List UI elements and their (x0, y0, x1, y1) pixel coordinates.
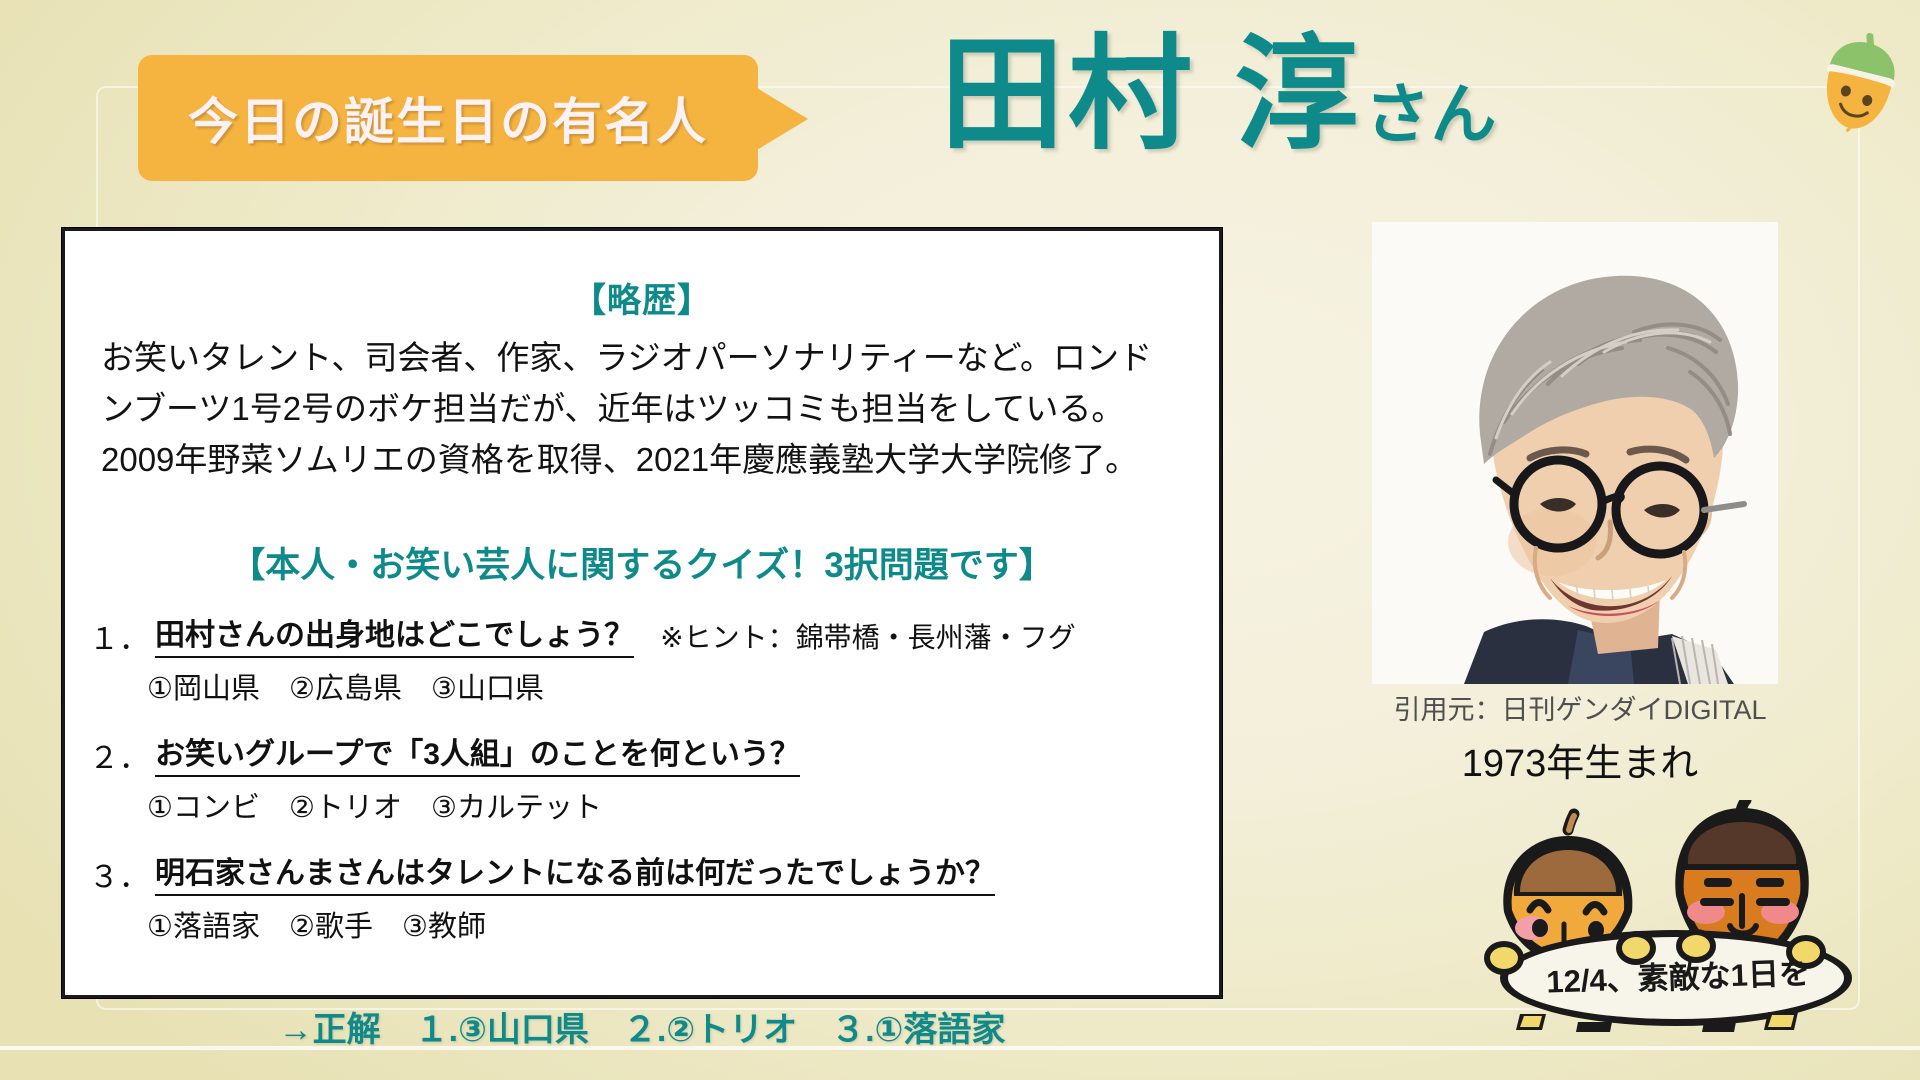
quiz-number: ３． (89, 852, 149, 896)
bio-heading: 【略歴】 (65, 273, 1219, 322)
slide-canvas: 今日の誕生日の有名人 田村 淳 さん 【略歴】 お笑いタレント、司会者、作家、ラ… (0, 0, 1920, 1080)
quiz-number: ２． (89, 733, 149, 777)
quiz-answer-line: →正解 １.③山口県 ２.②トリオ ３.①落語家 (62, 1002, 1222, 1051)
quiz-options: ①落語家 ②歌手 ③教師 (147, 903, 1219, 945)
birth-year: 1973年生まれ (1330, 732, 1830, 787)
quiz-options: ①コンビ ②トリオ ③カルテット (147, 784, 1219, 826)
acorn-mascots-group (1468, 800, 1888, 1050)
bio-line: ンブーツ1号2号のボケ担当だが、近年はツッコミも担当をしている。 (101, 383, 1219, 434)
person-honorific: さん (1364, 61, 1496, 157)
person-name: 田村 淳 (940, 30, 1362, 160)
page-title: 田村 淳 さん (940, 30, 1496, 160)
quiz-heading: 【本人・お笑い芸人に関するクイズ！3択問題です】 (65, 537, 1219, 588)
banner-label: 今日の誕生日の有名人 (188, 82, 708, 154)
quiz-hint: ※ヒント：錦帯橋・長州藩・フグ (660, 616, 1075, 658)
bio-line: お笑いタレント、司会者、作家、ラジオパーソナリティーなど。ロンド (101, 332, 1219, 383)
quiz-item-1: １． 田村さんの出身地はどこでしょう？ ※ヒント：錦帯橋・長州藩・フグ ①岡山県… (65, 610, 1219, 707)
today-birthday-banner: 今日の誕生日の有名人 (138, 55, 758, 181)
bio-text: お笑いタレント、司会者、作家、ラジオパーソナリティーなど。ロンド ンブーツ1号2… (65, 332, 1219, 485)
person-photo (1372, 222, 1778, 684)
acorn-smiley-icon (1807, 24, 1912, 145)
quiz-item-3: ３． 明石家さんまさんはタレントになる前は何だったでしょうか？ ①落語家 ②歌手… (65, 848, 1219, 945)
quiz-number: １． (89, 614, 149, 658)
quiz-question: 田村さんの出身地はどこでしょう？ (155, 610, 634, 658)
quiz-question: 明石家さんまさんはタレントになる前は何だったでしょうか？ (155, 848, 995, 896)
bio-line: 2009年野菜ソムリエの資格を取得、2021年慶應義塾大学大学院修了。 (101, 434, 1219, 485)
banner-arrow-icon (752, 85, 808, 153)
quiz-question: お笑いグループで「3人組」のことを何という？ (155, 729, 800, 777)
profile-quiz-card: 【略歴】 お笑いタレント、司会者、作家、ラジオパーソナリティーなど。ロンド ンブ… (62, 228, 1222, 998)
quiz-options: ①岡山県 ②広島県 ③山口県 (147, 665, 1219, 707)
photo-credit: 引用元：日刊ゲンダイDIGITAL (1330, 688, 1830, 727)
quiz-item-2: ２． お笑いグループで「3人組」のことを何という？ ①コンビ ②トリオ ③カルテ… (65, 729, 1219, 826)
